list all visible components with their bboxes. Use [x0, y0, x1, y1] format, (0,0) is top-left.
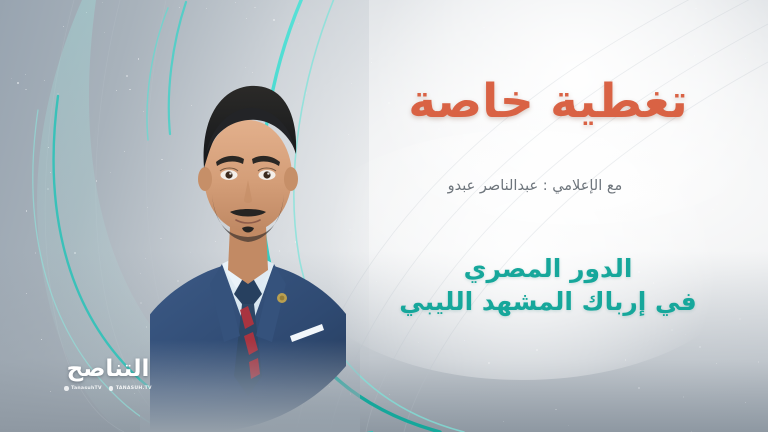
channel-logo-wordmark: التناصح [67, 358, 150, 381]
handle-1-label: TanasuhTV [71, 386, 102, 391]
handle-social-2: TANASUH.TV [109, 386, 152, 391]
presenter-portrait [150, 36, 346, 432]
presenter-credit: مع الإعلامي : عبدالناصر عبدو [370, 178, 700, 194]
handle-social-1: TanasuhTV [64, 386, 102, 391]
broadcast-graphic: تغطية خاصة مع الإعلامي : عبدالناصر عبدو … [0, 0, 768, 432]
social-icon [64, 386, 69, 391]
globe-icon [109, 386, 114, 391]
handle-2-label: TANASUH.TV [116, 386, 152, 391]
program-title: تغطية خاصة [358, 76, 738, 129]
topic-line-2: في إرباك المشهد الليبي [368, 285, 728, 318]
channel-logo: التناصح TanasuhTV TANASUH.TV [52, 358, 164, 404]
channel-logo-handles: TanasuhTV TANASUH.TV [64, 386, 152, 391]
topic-headline: الدور المصري في إرباك المشهد الليبي [368, 252, 728, 318]
topic-line-1: الدور المصري [464, 254, 633, 283]
